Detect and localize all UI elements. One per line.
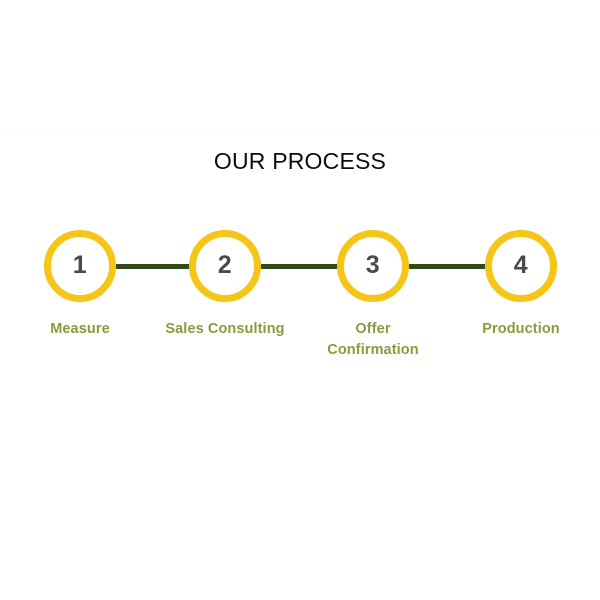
step-circle-4[interactable]: 4 <box>485 230 557 302</box>
top-divider <box>0 134 600 135</box>
step-number-1: 1 <box>73 253 87 278</box>
step-number-3: 3 <box>366 253 380 278</box>
process-step-1[interactable]: 1 Measure <box>6 230 154 340</box>
step-number-4: 4 <box>514 253 528 278</box>
connector-1-2 <box>116 264 189 269</box>
step-circle-3[interactable]: 3 <box>337 230 409 302</box>
process-step-band: 1 Measure 2 Sales Consulting 3 Offer Con… <box>0 230 600 410</box>
connector-2-3 <box>261 264 337 269</box>
step-label-2: Sales Consulting <box>151 319 299 340</box>
process-diagram-canvas: OUR PROCESS 1 Measure 2 Sales Consulting… <box>0 0 600 600</box>
page-title: OUR PROCESS <box>0 148 600 175</box>
step-label-1: Measure <box>6 319 154 340</box>
step-label-4: Production <box>447 319 595 340</box>
process-step-3[interactable]: 3 Offer Confirmation <box>299 230 447 362</box>
step-circle-1[interactable]: 1 <box>44 230 116 302</box>
step-number-2: 2 <box>218 253 232 278</box>
process-step-2[interactable]: 2 Sales Consulting <box>151 230 299 340</box>
connector-3-4 <box>409 264 485 269</box>
step-circle-2[interactable]: 2 <box>189 230 261 302</box>
step-label-3: Offer Confirmation <box>313 319 433 362</box>
process-step-4[interactable]: 4 Production <box>447 230 595 340</box>
